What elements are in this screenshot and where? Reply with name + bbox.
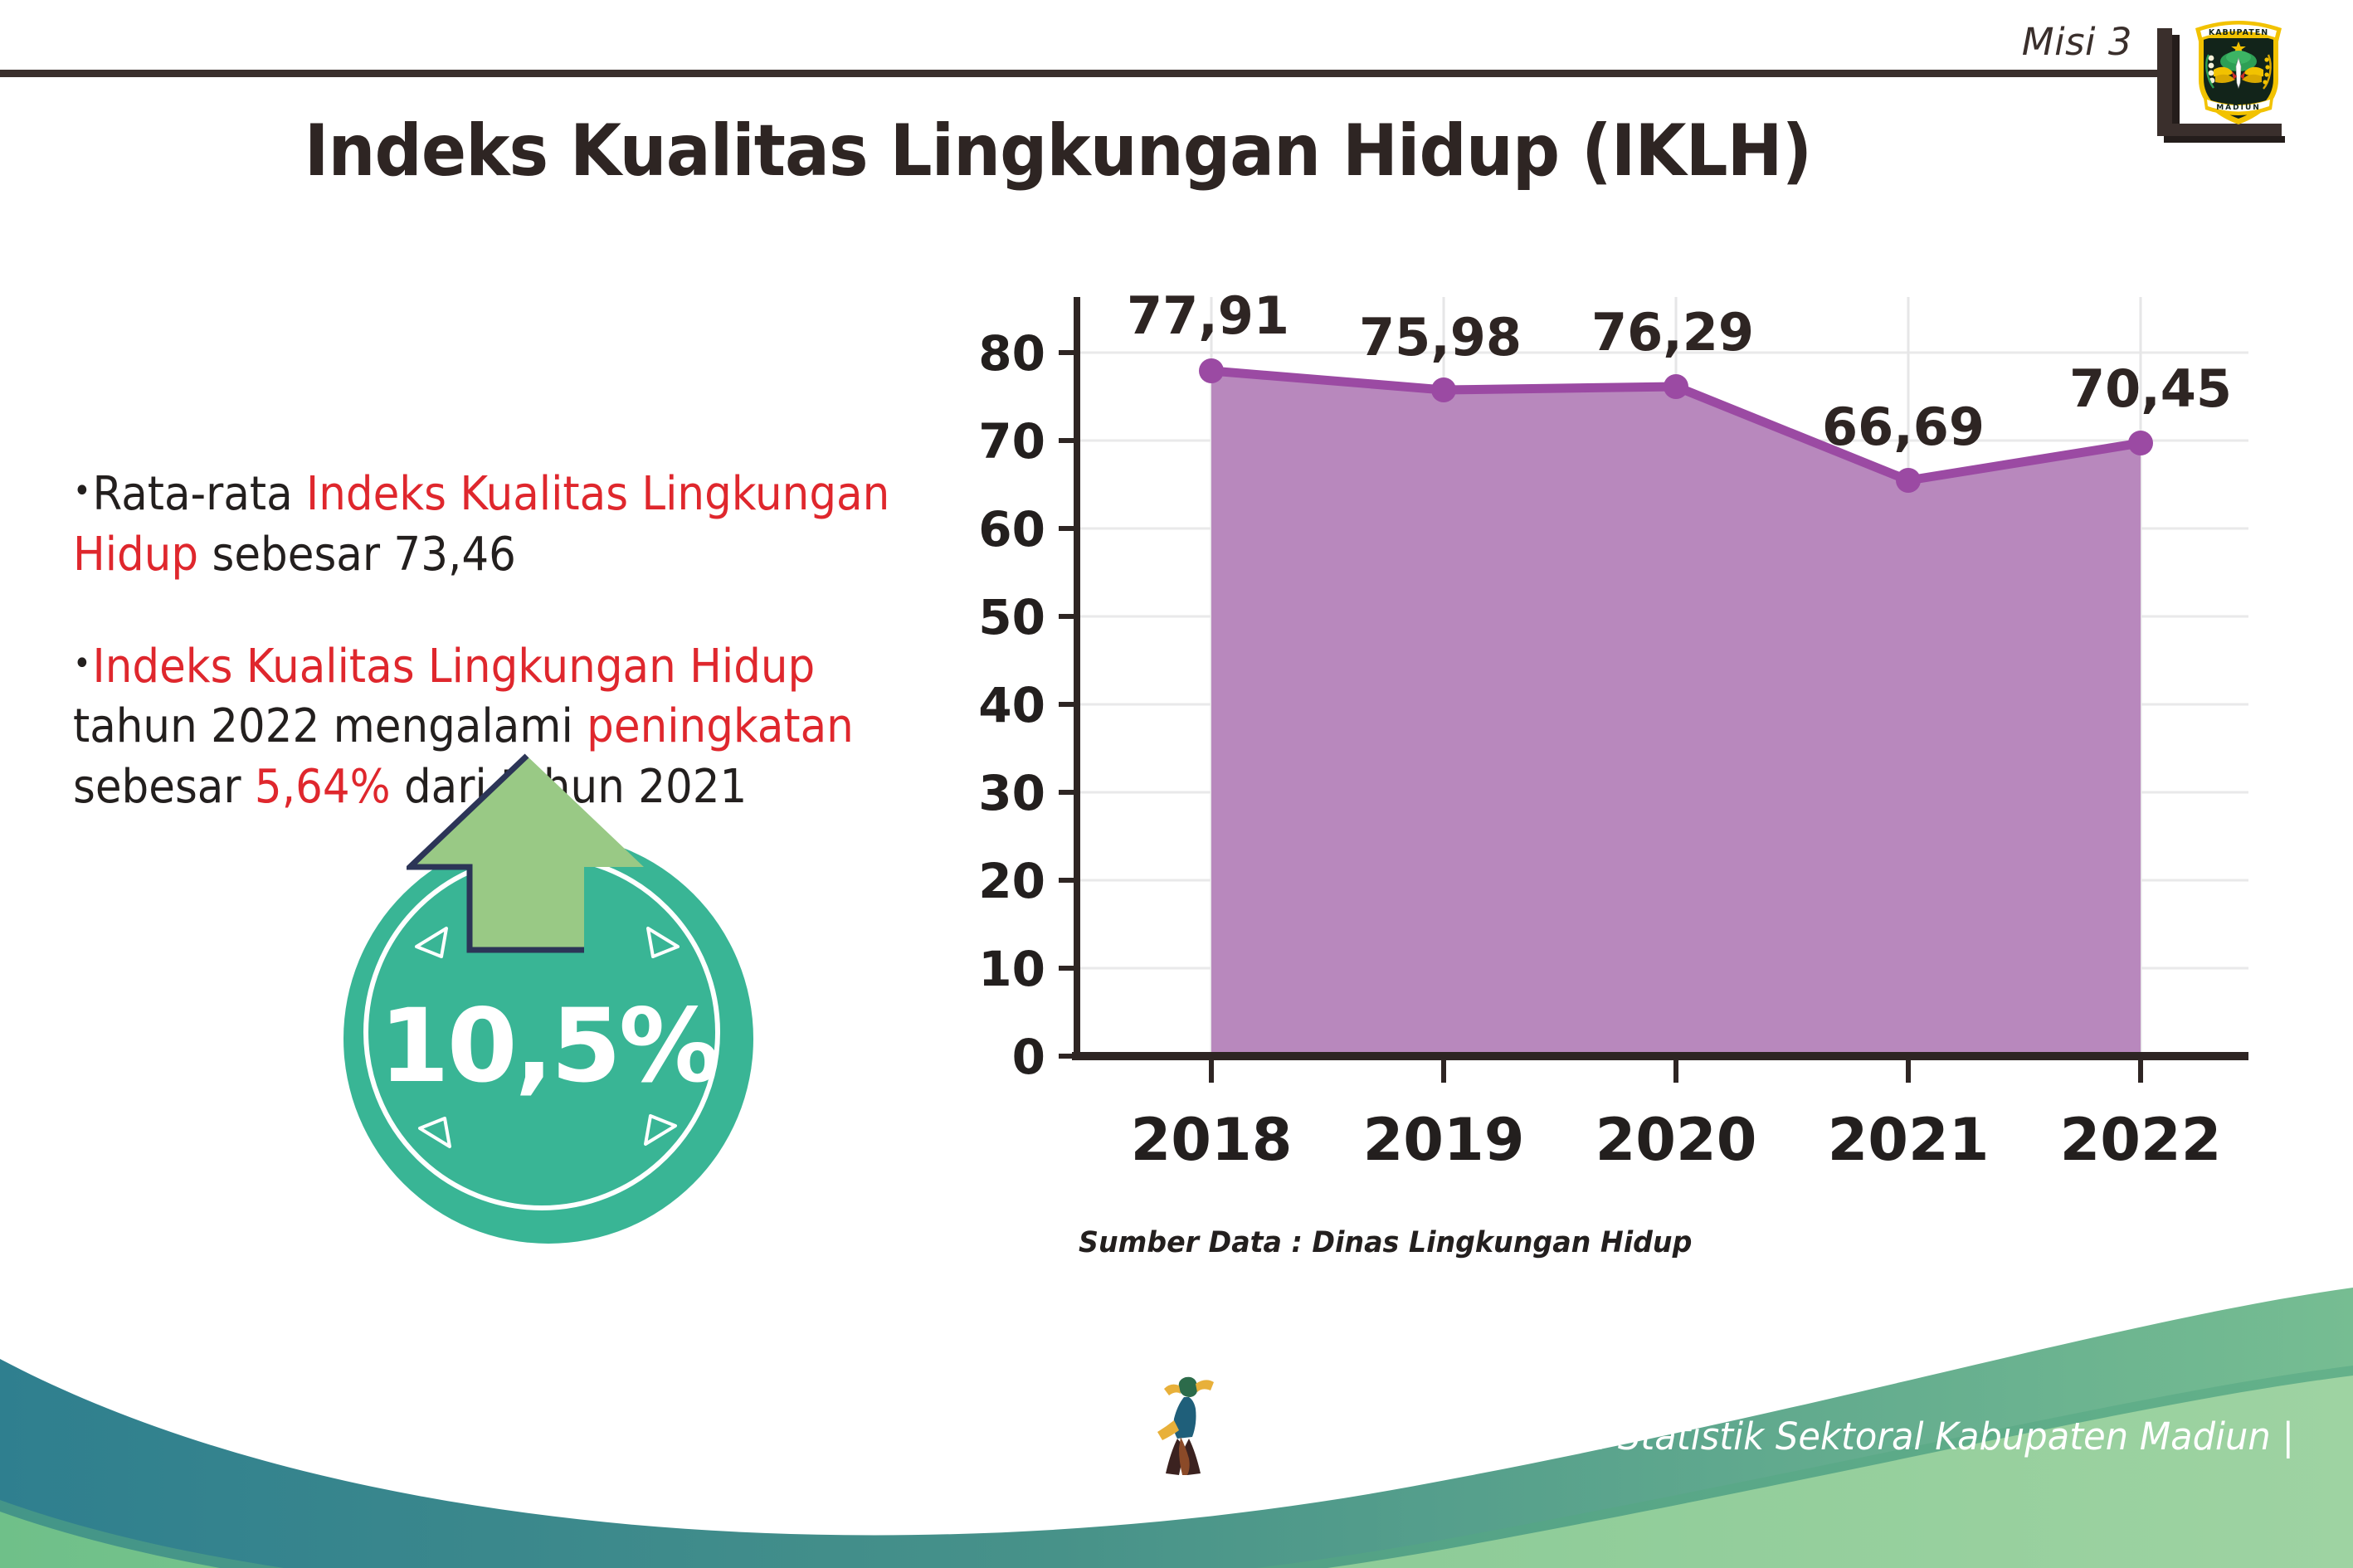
bullet-segment: sebesar 73,46 xyxy=(198,528,516,582)
kabupaten-madiun-crest-icon: KABUPATEN MADIUN xyxy=(2189,12,2288,128)
misi-label: Misi 3 xyxy=(2022,20,2132,64)
bracket-vertical-bar xyxy=(2157,28,2172,136)
y-tick-label: 0 xyxy=(1012,1029,1045,1085)
chart-x-tick-labels: 2018 2019 2020 2021 2022 xyxy=(1131,1106,2222,1174)
badge-value: 10,5% xyxy=(343,987,753,1105)
y-tick-label: 10 xyxy=(979,941,1045,997)
badge-tick-top-right-icon xyxy=(643,925,681,963)
svg-text:MADIUN: MADIUN xyxy=(2216,104,2261,112)
bullet-segment: Rata-rata xyxy=(93,467,306,521)
footer: Media Infografis Data Statistik Sektoral… xyxy=(0,1269,2353,1568)
data-label-2018: 77,91 xyxy=(1127,285,1289,346)
bullet-segment-highlight: peningkatan xyxy=(587,699,854,753)
y-tick-label: 40 xyxy=(979,677,1045,733)
data-label-2021: 66,69 xyxy=(1822,397,1985,457)
badge-tick-bottom-left-icon xyxy=(417,1112,455,1150)
data-point-2022 xyxy=(2128,431,2153,455)
increase-badge: 10,5% xyxy=(324,751,788,1215)
bullet-segment: sebesar xyxy=(73,760,255,814)
chart-canvas: 80 70 60 50 40 30 20 10 0 2018 2019 2020… xyxy=(979,282,2290,1278)
arrow-up-icon xyxy=(407,751,647,958)
data-point-2019 xyxy=(1431,377,1456,402)
statistics-person-logo-icon xyxy=(1149,1372,1220,1485)
x-tick-label: 2021 xyxy=(1828,1106,1990,1174)
chart-y-tick-labels: 80 70 60 50 40 30 20 10 0 xyxy=(979,325,1045,1085)
bullet-segment-highlight: Indeks Kualitas Lingkungan Hidup xyxy=(93,640,816,694)
bullet-segment: tahun 2022 mengalami xyxy=(73,699,587,753)
x-tick-label: 2018 xyxy=(1131,1106,1293,1174)
chart-source-note: Sumber Data : Dinas Lingkungan Hidup xyxy=(1079,1226,1692,1259)
data-label-2019: 75,98 xyxy=(1359,307,1522,368)
data-point-2021 xyxy=(1896,468,1921,493)
x-tick-label: 2020 xyxy=(1595,1106,1757,1174)
y-tick-label: 20 xyxy=(979,853,1045,909)
y-tick-label: 70 xyxy=(979,413,1045,470)
header-rule xyxy=(0,70,2167,77)
bullet-dot: • xyxy=(73,475,91,508)
data-point-2020 xyxy=(1664,374,1688,399)
bullet-dot: • xyxy=(73,647,91,680)
infographic-slide: Misi 3 KABUPATEN xyxy=(0,0,2353,1568)
y-tick-label: 50 xyxy=(979,589,1045,645)
svg-text:KABUPATEN: KABUPATEN xyxy=(2209,28,2268,37)
iklh-area-chart: 80 70 60 50 40 30 20 10 0 2018 2019 2020… xyxy=(979,282,2290,1278)
data-point-2018 xyxy=(1199,358,1224,383)
x-tick-label: 2019 xyxy=(1363,1106,1525,1174)
y-tick-label: 30 xyxy=(979,765,1045,821)
bullet-item: •Rata-rata Indeks Kualitas Lingkungan Hi… xyxy=(73,465,920,586)
data-label-2020: 76,29 xyxy=(1591,302,1754,363)
y-tick-label: 80 xyxy=(979,325,1045,382)
x-tick-label: 2022 xyxy=(2060,1106,2222,1174)
y-tick-label: 60 xyxy=(979,501,1045,558)
chart-area-fill xyxy=(1211,371,2141,1056)
page-title: Indeks Kualitas Lingkungan Hidup (IKLH) xyxy=(74,110,2042,192)
badge-tick-bottom-right-icon xyxy=(641,1109,679,1147)
footer-text: Media Infografis Data Statistik Sektoral… xyxy=(1221,1415,2294,1458)
data-label-2022: 70,45 xyxy=(2069,358,2232,419)
